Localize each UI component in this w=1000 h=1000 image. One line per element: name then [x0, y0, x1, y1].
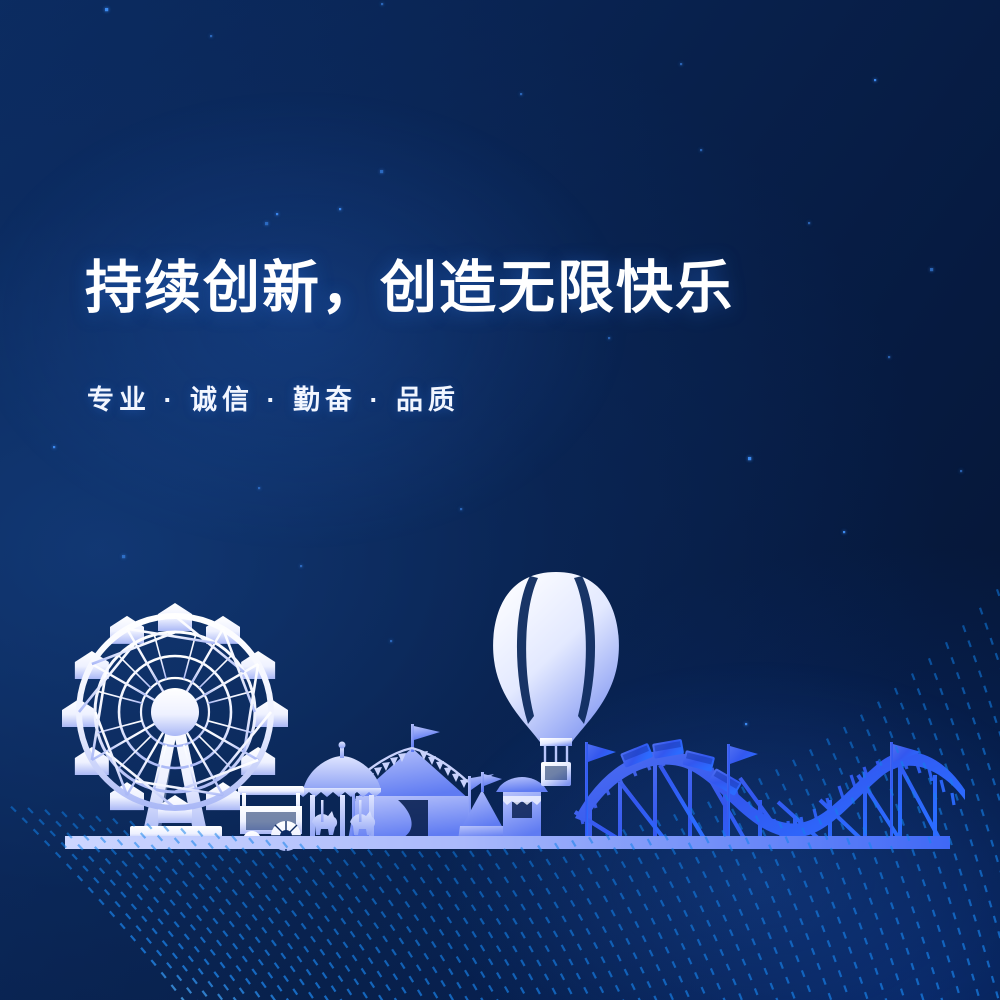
glowing-wave-layer: [0, 0, 1000, 1000]
wave-hatch-line: [368, 850, 593, 1000]
wave-hatch-line: [470, 851, 695, 1000]
wave-hatch-line: [164, 826, 389, 1000]
wave-cross-hatch: [11, 570, 1000, 1000]
wave-hatch-line: [453, 852, 678, 1000]
wave-hatch-line: [844, 727, 1000, 1000]
wave-hatch-line: [521, 847, 746, 1000]
wave-hatch-line: [45, 810, 270, 1000]
wave-hatch-line: [487, 850, 712, 1000]
wave-hatch-line: [946, 642, 1000, 1000]
wave-hatch-line: [980, 608, 1000, 1000]
wave-hatch-line: [147, 824, 372, 1000]
wave-hatch-line: [912, 674, 1000, 1000]
wave-hatch-line: [776, 769, 1000, 1000]
copy-block: 持续创新，创造无限快乐 专业 · 诚信 · 勤奋 · 品质: [85, 258, 905, 417]
wave-hatch-line: [759, 778, 984, 1000]
wave-hatch-line: [725, 795, 950, 1000]
wave-hatch-line: [895, 688, 1000, 1000]
wave-hatch-line: [691, 808, 916, 1000]
wave-hatch-line: [351, 849, 576, 1000]
wave-hatch-line: [555, 843, 780, 1000]
wave-hatch-line: [504, 849, 729, 1000]
tagline: 专业 · 诚信 · 勤奋 · 品质: [87, 378, 905, 417]
wave-hatch-line: [861, 715, 1000, 1000]
wave-hatch-line: [538, 846, 763, 1000]
wave-hatch-line: [708, 802, 933, 1000]
promo-banner: 持续创新，创造无限快乐 专业 · 诚信 · 勤奋 · 品质: [0, 0, 1000, 1000]
page-title: 持续创新，创造无限快乐: [85, 258, 905, 320]
wave-hatch-line: [317, 846, 542, 1000]
wave-hatch-line: [810, 750, 1000, 1000]
wave-hatch-line: [385, 851, 610, 1000]
wave-hatch-line: [334, 847, 559, 1000]
wave-hatch-line: [827, 739, 1000, 1000]
wave-hatch-line: [878, 702, 1000, 1000]
wave-hatch-line: [436, 852, 661, 1000]
